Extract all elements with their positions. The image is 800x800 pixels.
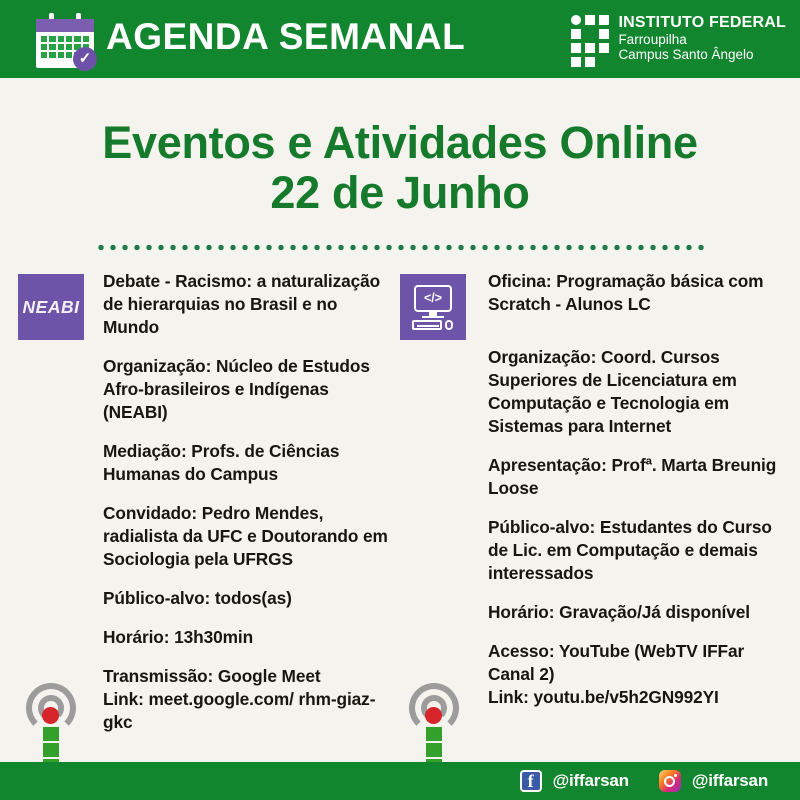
event-link[interactable]: Link: meet.google.com/ rhm-giaz-gkc [103,688,395,734]
event-entry: Debate - Racismo: a naturalização de hie… [103,270,395,339]
monitor-screen-icon: </> [414,285,452,312]
event-entry: Organização: Coord. Cursos Superiores de… [488,346,786,438]
broadcast-block [43,743,59,757]
facebook-icon[interactable] [520,770,542,792]
event-entry: Oficina: Programação básica com Scratch … [488,270,786,316]
dotted-divider [95,244,705,251]
programming-monitor-icon: </> [400,274,466,340]
event-link[interactable]: Link: youtu.be/v5h2GN992YI [488,686,786,709]
instituto-federal-grid-logo [571,15,609,61]
event-entry: Horário: Gravação/Já disponível [488,601,786,624]
facebook-link[interactable]: @iffarsan [520,770,629,792]
page-title: AGENDA SEMANAL [106,16,465,58]
footer-bar: @iffarsan @iffarsan [0,762,800,800]
institution-unit: Farroupilha [618,32,786,47]
calendar-check-badge: ✓ [73,47,97,71]
instituto-federal-text: INSTITUTO FEDERAL Farroupilha Campus San… [618,14,786,62]
instagram-flash-dot [674,774,677,777]
event-entry: Horário: 13h30min [103,626,395,649]
main-title-line-1: Eventos e Atividades Online [0,118,800,168]
calendar-check-icon: ✓ [36,13,94,68]
broadcast-record-dot [425,707,442,724]
calendar-header-band [36,19,94,32]
instagram-icon[interactable] [659,770,681,792]
institution-campus: Campus Santo Ângelo [618,47,786,62]
header-bar: ✓ AGENDA SEMANAL INSTITUTO FEDERAL Farro… [0,0,800,78]
neabi-logo: NEABI [18,274,84,340]
event-entry: Organização: Núcleo de Estudos Afro-bras… [103,355,395,424]
live-broadcast-icon [403,678,465,744]
live-broadcast-icon [20,678,82,744]
instagram-link[interactable]: @iffarsan [659,770,768,792]
event-details-left: Debate - Racismo: a naturalização de hie… [103,270,395,734]
event-entry: Apresentação: Profª. Marta Breunig Loose [488,454,786,500]
event-entry: Transmissão: Google Meet [103,665,395,688]
event-details-right: Oficina: Programação básica com Scratch … [488,270,786,709]
mouse-icon [445,320,453,330]
broadcast-block [426,727,442,741]
code-brackets-glyph: </> [424,291,442,305]
institution-name: INSTITUTO FEDERAL [618,14,786,32]
facebook-handle: @iffarsan [553,771,629,791]
instagram-lens [664,776,675,787]
broadcast-block [426,743,442,757]
monitor-base [422,316,444,318]
main-title-block: Eventos e Atividades Online 22 de Junho [0,118,800,219]
monitor-keyboard-mouse-icon: </> [410,284,456,330]
event-entry: Acesso: YouTube (WebTV IFFar Canal 2) [488,640,786,686]
broadcast-block [43,727,59,741]
instagram-handle: @iffarsan [692,771,768,791]
poster-canvas: ✓ AGENDA SEMANAL INSTITUTO FEDERAL Farro… [0,0,800,800]
keyboard-keys [417,325,439,327]
event-entry: Convidado: Pedro Mendes, radialista da U… [103,502,395,571]
event-entry: Público-alvo: Estudantes do Curso de Lic… [488,516,786,585]
main-title-line-2: 22 de Junho [0,168,800,218]
instituto-federal-logo: INSTITUTO FEDERAL Farroupilha Campus San… [571,14,786,62]
event-entry: Mediação: Profs. de Ciências Humanas do … [103,440,395,486]
keyboard-icon [412,320,442,330]
event-entry: Público-alvo: todos(as) [103,587,395,610]
broadcast-record-dot [42,707,59,724]
neabi-logo-label: NEABI [23,297,80,318]
